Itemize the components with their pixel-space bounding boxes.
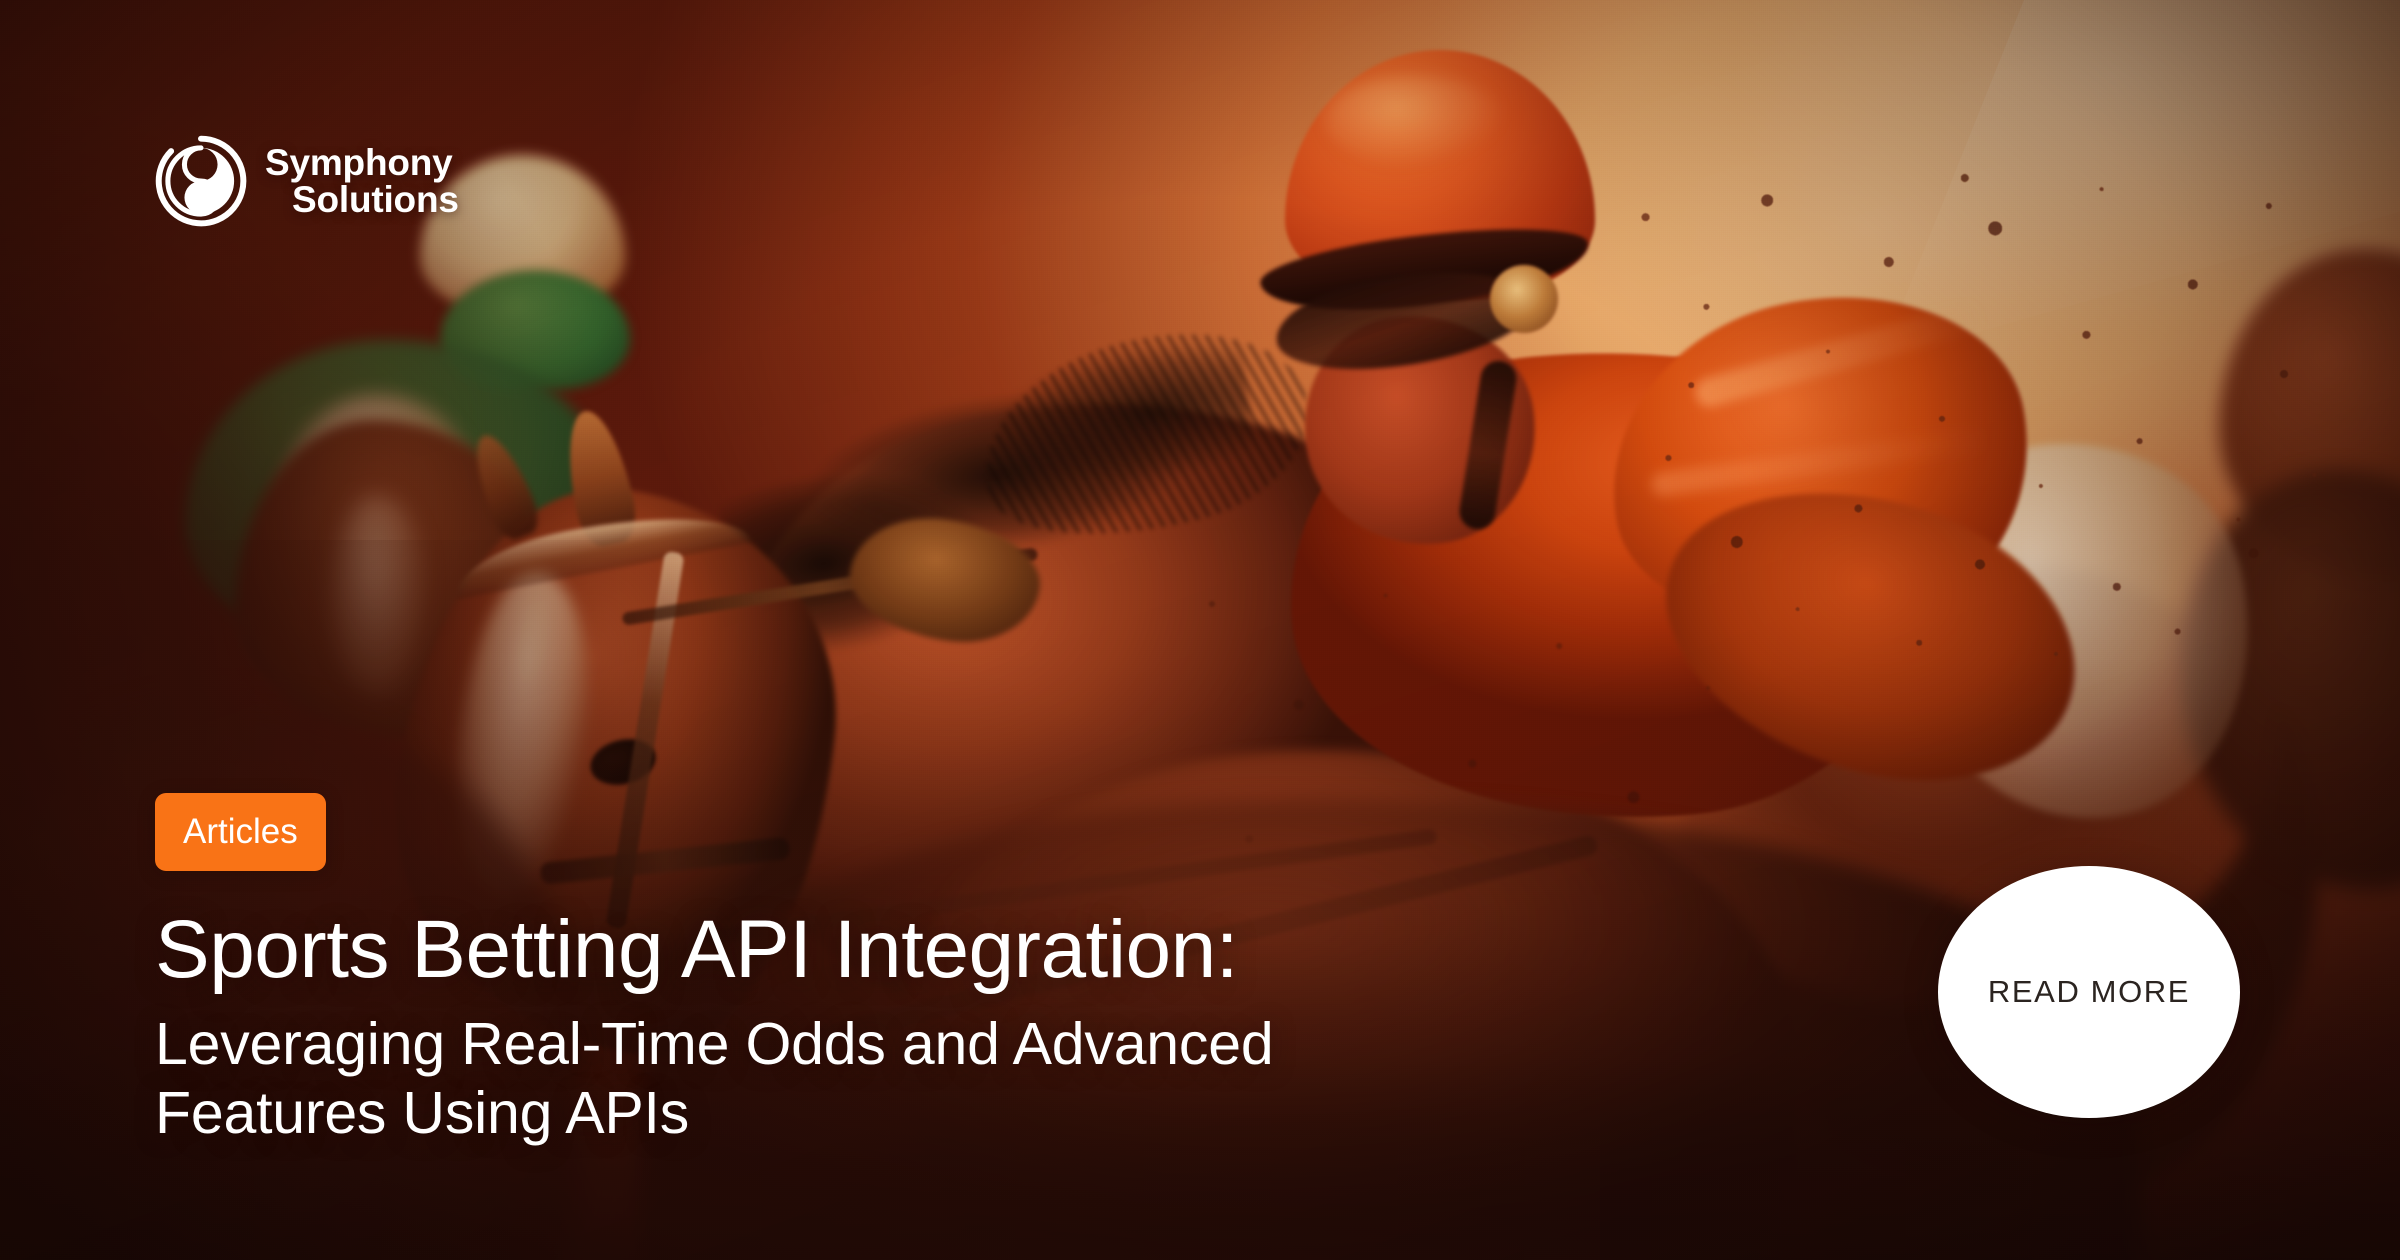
brand-wordmark: Symphony Solutions [265, 144, 459, 218]
category-badge[interactable]: Articles [155, 793, 326, 871]
brand-name-line1: Symphony [265, 144, 459, 181]
read-more-label: READ MORE [1988, 974, 2190, 1010]
symphony-yinyang-s-icon [155, 135, 247, 227]
page-title: Sports Betting API Integration: [155, 907, 1273, 992]
brand-logo[interactable]: Symphony Solutions [155, 135, 459, 227]
page-subtitle: Leveraging Real-Time Odds and Advanced F… [155, 1010, 1273, 1148]
page-subtitle-line2: Features Using APIs [155, 1079, 1273, 1148]
hero-content: Articles Sports Betting API Integration:… [155, 793, 1273, 1148]
brand-name-line2: Solutions [292, 181, 459, 218]
hero-banner: Symphony Solutions Articles Sports Betti… [0, 0, 2400, 1260]
page-subtitle-line1: Leveraging Real-Time Odds and Advanced [155, 1010, 1273, 1079]
read-more-button[interactable]: READ MORE [1938, 866, 2240, 1118]
